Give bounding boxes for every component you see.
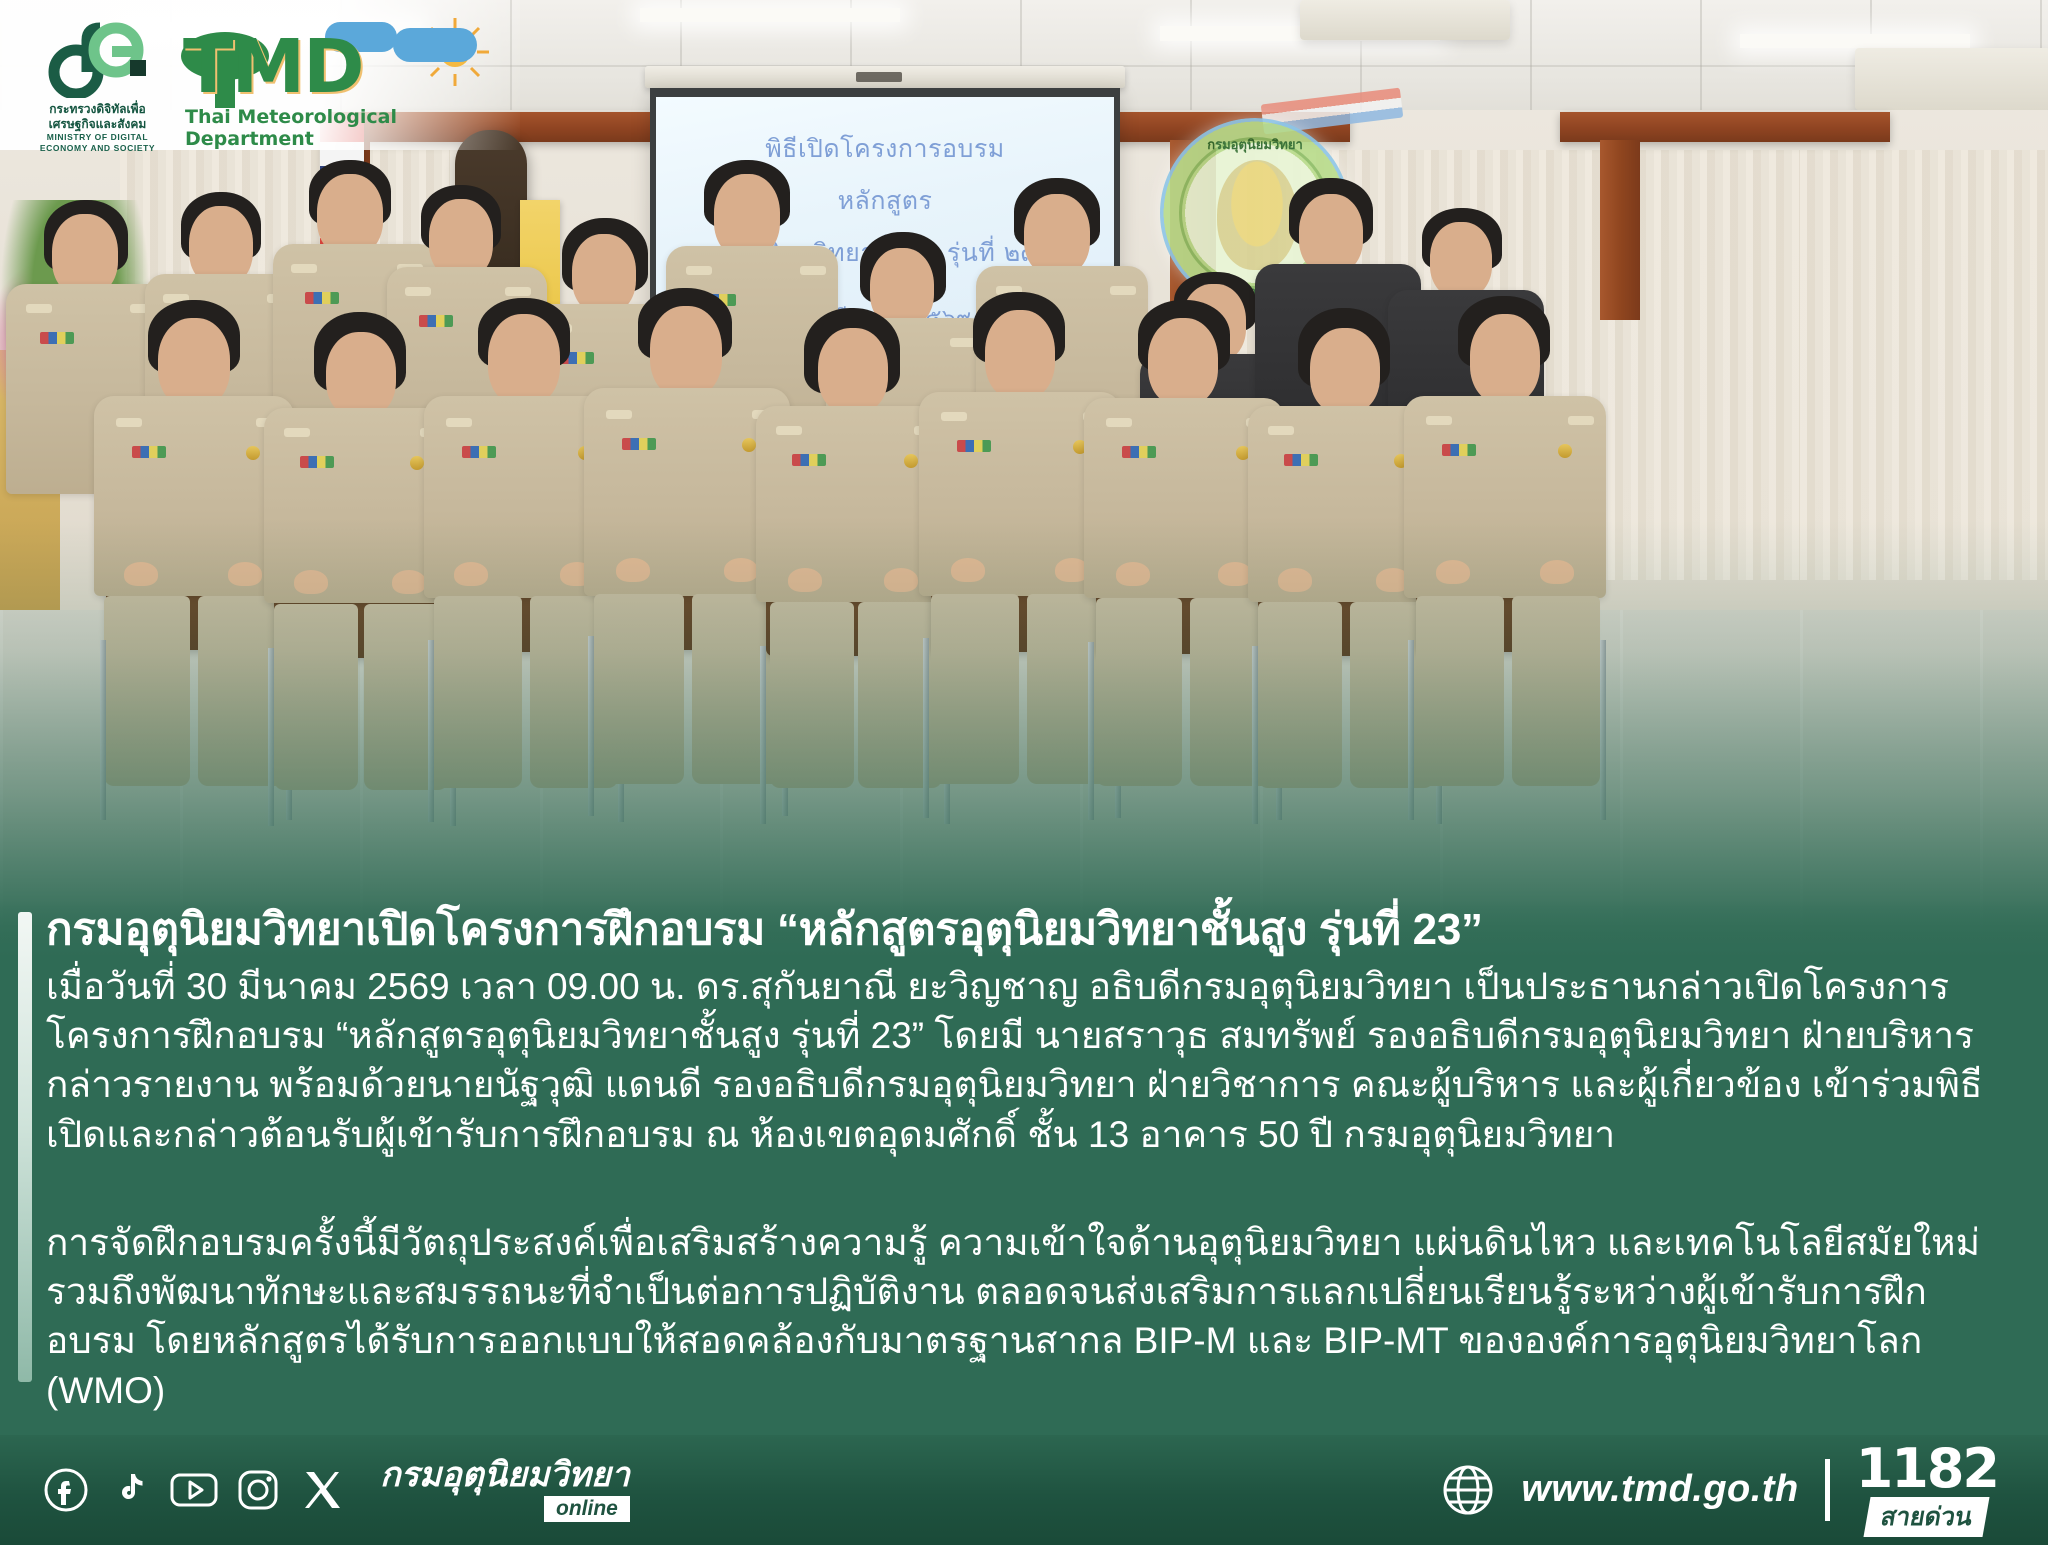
ministry-name-en: MINISTRY OF DIGITAL ECONOMY AND SOCIETY xyxy=(30,132,165,153)
article-paragraph-2: การจัดฝึกอบรมครั้งนี้มีวัตถุประสงค์เพื่อ… xyxy=(46,1218,2006,1415)
footer-brand: กรมอุตุนิยมวิทยา online xyxy=(372,1458,630,1522)
footer-brand-tag: online xyxy=(544,1496,630,1522)
youtube-icon[interactable] xyxy=(170,1466,218,1514)
ministry-logo: กระทรวงดิจิทัลเพื่อเศรษฐกิจและสังคม MINI… xyxy=(30,18,165,138)
poster-root: พิธีเปิดโครงการอบรม หลักสูตร อุตุนิยมวิท… xyxy=(0,0,2048,1545)
page-title: กรมอุตุนิยมวิทยาเปิดโครงการฝึกอบรม “หลัก… xyxy=(46,904,1946,957)
article-panel: กรมอุตุนิยมวิทยาเปิดโครงการฝึกอบรม “หลัก… xyxy=(0,900,2048,1445)
air-conditioner xyxy=(1300,0,1510,40)
ministry-caption: กระทรวงดิจิทัลเพื่อเศรษฐกิจและสังคม MINI… xyxy=(30,102,165,153)
footer-bar: กรมอุตุนิยมวิทยา online www.tmd.go.th 11… xyxy=(0,1435,2048,1545)
x-twitter-icon[interactable] xyxy=(298,1466,346,1514)
tmd-wordmark: TMD xyxy=(183,24,363,110)
hotline-label: สายด่วน xyxy=(1864,1497,1990,1537)
ministry-name-th: กระทรวงดิจิทัลเพื่อเศรษฐกิจและสังคม xyxy=(30,102,165,132)
logo-bar: กระทรวงดิจิทัลเพื่อเศรษฐกิจและสังคม MINI… xyxy=(0,0,520,150)
hotline: 1182 สายด่วน xyxy=(1856,1443,1998,1536)
seal-deity-figure xyxy=(1217,160,1297,270)
facebook-icon[interactable] xyxy=(42,1466,90,1514)
tmd-subtitle: Thai Meteorological Department xyxy=(185,106,495,150)
seal-label-th: กรมอุตุนิยมวิทยา xyxy=(1160,134,1350,155)
footer-brand-name: กรมอุตุนิยมวิทยา xyxy=(380,1458,630,1492)
hotline-number: 1182 xyxy=(1856,1443,1998,1494)
tiktok-icon[interactable] xyxy=(106,1466,154,1514)
wood-column xyxy=(1600,140,1640,320)
cloud-icon xyxy=(393,28,477,62)
tmd-logo: TMD Thai Meteorological Department xyxy=(175,14,495,139)
globe-icon xyxy=(1441,1463,1495,1517)
footer-contact-group: www.tmd.go.th 1182 สายด่วน xyxy=(1441,1443,2048,1536)
website-url[interactable]: www.tmd.go.th xyxy=(1521,1468,1798,1511)
air-conditioner xyxy=(1855,48,2048,110)
footer-social-group: กรมอุตุนิยมวิทยา online xyxy=(0,1458,630,1522)
projector-screen-housing xyxy=(645,66,1125,88)
article-paragraph-1: เมื่อวันที่ 30 มีนาคม 2569 เวลา 09.00 น.… xyxy=(46,962,2006,1159)
curtain xyxy=(1800,150,2048,580)
instagram-icon[interactable] xyxy=(234,1466,282,1514)
ceiling-light xyxy=(640,8,900,22)
de-monogram-icon xyxy=(42,20,152,98)
wood-beam xyxy=(1560,112,1890,142)
footer-divider xyxy=(1825,1459,1830,1521)
ceiling-light xyxy=(1740,34,1970,48)
accent-bar xyxy=(18,912,32,1382)
